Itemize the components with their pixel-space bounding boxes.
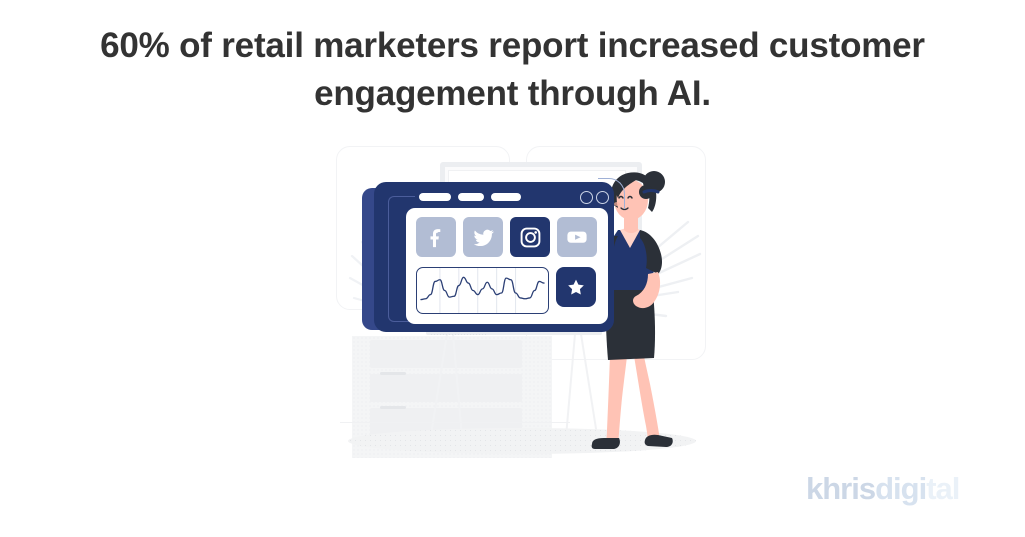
instagram-tile[interactable] (510, 217, 550, 257)
browser-tab[interactable] (458, 193, 484, 201)
page-title: 60% of retail marketers report increased… (30, 22, 995, 118)
window-control-icon[interactable] (596, 191, 609, 204)
facebook-tile[interactable] (416, 217, 456, 257)
browser-tab[interactable] (491, 193, 521, 201)
shelf-row (370, 374, 522, 402)
youtube-tile[interactable] (557, 217, 597, 257)
twitter-tile[interactable] (463, 217, 503, 257)
stat-card-canvas: 60% of retail marketers report increased… (0, 0, 1025, 537)
favorite-star-button[interactable] (556, 267, 596, 307)
headline-line-1: 60% of retail marketers report increased… (30, 22, 995, 70)
instagram-icon (519, 226, 542, 249)
logo-part-digi: digi (875, 471, 926, 506)
twitter-icon (472, 226, 495, 249)
brand-logo[interactable]: khrisdigital (806, 470, 991, 508)
browser-tab[interactable] (419, 193, 451, 201)
star-icon (566, 277, 586, 297)
social-tiles-row (416, 217, 597, 257)
headline-line-2: engagement through AI. (30, 70, 995, 118)
facebook-icon (425, 226, 447, 248)
engagement-line-chart (417, 268, 548, 313)
browser-frame (374, 182, 614, 332)
shelf-notch (380, 372, 406, 375)
browser-viewport (406, 208, 608, 324)
floor-line (340, 422, 570, 423)
browser-window[interactable] (362, 182, 614, 332)
logo-part-tal: tal (926, 471, 959, 506)
logo-part-khris: khris (806, 471, 875, 506)
engagement-chart (416, 267, 549, 314)
logo-wordmark: khrisdigital (806, 470, 991, 508)
illustration (330, 140, 710, 480)
shelf-notch (380, 406, 406, 409)
youtube-icon (565, 225, 589, 249)
window-control-icon[interactable] (580, 191, 593, 204)
